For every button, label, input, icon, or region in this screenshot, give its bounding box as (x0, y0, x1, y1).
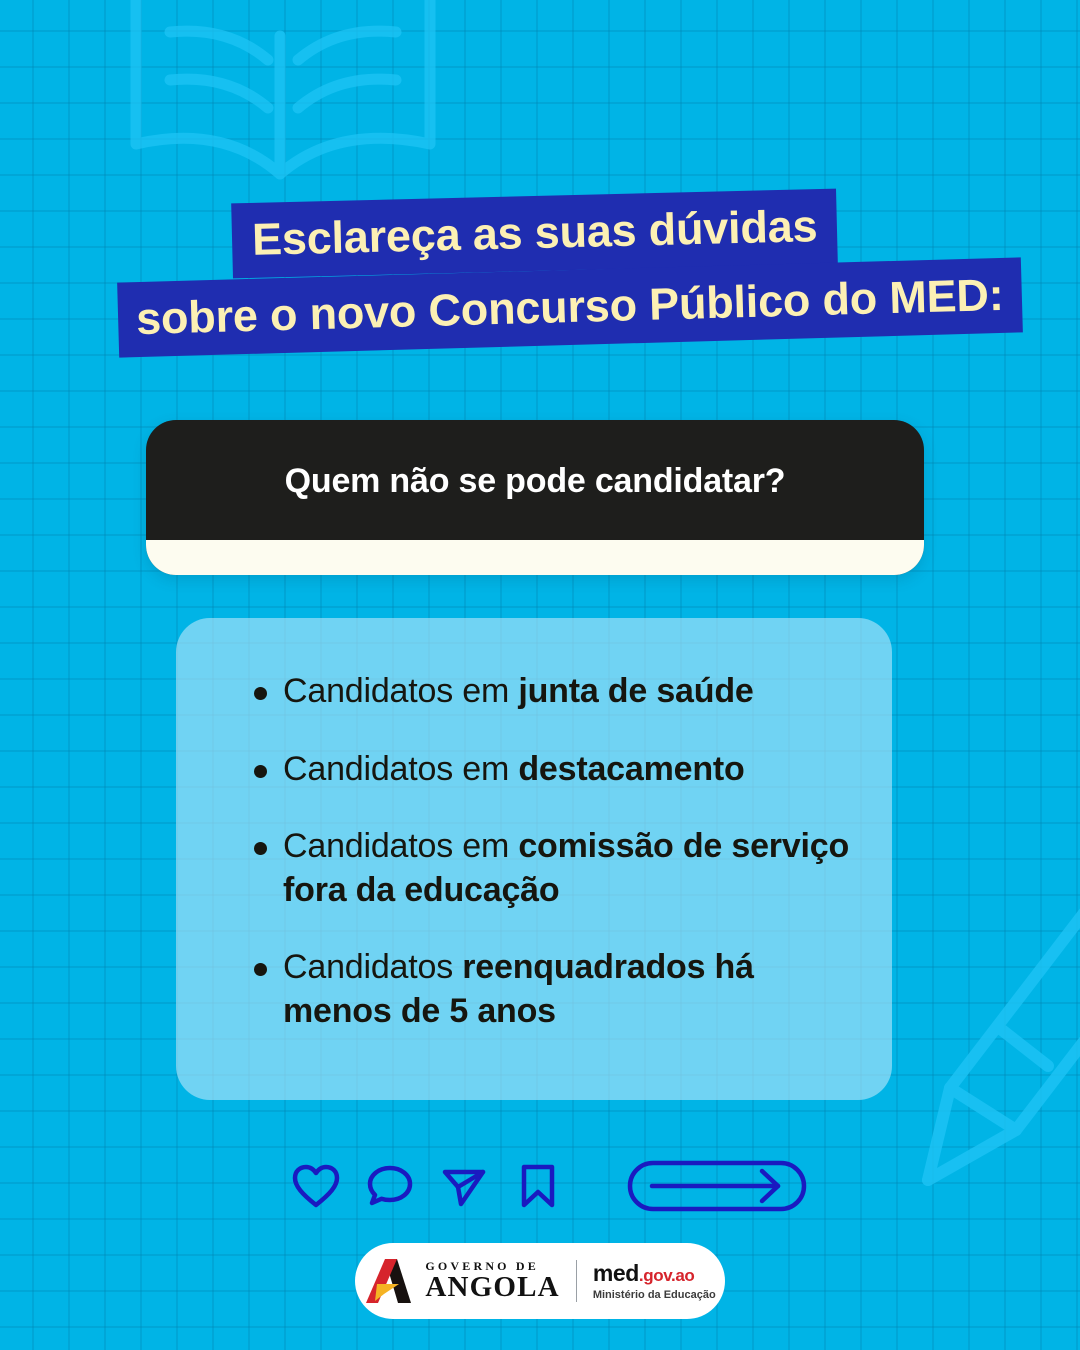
bullet-lead: Candidatos em (283, 750, 518, 788)
governo-text-block: GOVERNO DE ANGOLA (425, 1260, 560, 1302)
question-text: Quem não se pode candidatar? (146, 462, 924, 501)
bookmark-icon[interactable] (512, 1160, 564, 1212)
swipe-right-button[interactable] (626, 1155, 808, 1217)
med-domain-line: med.gov.ao (593, 1262, 716, 1285)
answer-panel: Candidatos em junta de saúde Candidatos … (176, 618, 892, 1100)
question-card: Quem não se pode candidatar? (146, 420, 924, 575)
list-item: Candidatos em destacamento (254, 748, 862, 792)
bullet-lead: Candidatos (283, 948, 462, 986)
bullet-text: Candidatos em destacamento (283, 748, 745, 792)
bullet-emphasis: destacamento (518, 750, 744, 788)
angola-a-mark-icon (364, 1257, 416, 1305)
bullet-dot-icon (254, 765, 267, 778)
bullet-dot-icon (254, 963, 267, 976)
bullet-emphasis: junta de saúde (518, 672, 753, 710)
med-gov-ao-logo: med.gov.ao Ministério da Educação (593, 1262, 716, 1301)
heart-icon[interactable] (290, 1160, 342, 1212)
logo-divider (576, 1260, 577, 1302)
list-item: Candidatos em junta de saúde (254, 670, 862, 714)
share-icon[interactable] (438, 1160, 490, 1212)
bullet-lead: Candidatos em (283, 672, 518, 710)
comment-icon[interactable] (364, 1160, 416, 1212)
bullet-lead: Candidatos em (283, 827, 518, 865)
pencil-icon (898, 880, 1080, 1210)
bullet-text: Candidatos reenquadrados há menos de 5 a… (283, 946, 862, 1033)
bullet-text: Candidatos em comissão de serviço fora d… (283, 825, 862, 912)
med-domain-label: .gov.ao (639, 1266, 694, 1285)
bullet-text: Candidatos em junta de saúde (283, 670, 754, 714)
card-bottom-strip (146, 540, 924, 575)
social-action-row (290, 1155, 808, 1217)
list-item: Candidatos em comissão de serviço fora d… (254, 825, 862, 912)
open-book-icon (118, 0, 448, 214)
bullet-dot-icon (254, 842, 267, 855)
bullet-list: Candidatos em junta de saúde Candidatos … (254, 670, 862, 1067)
governo-de-angola-logo: GOVERNO DE ANGOLA (364, 1257, 560, 1305)
med-label: med (593, 1260, 639, 1286)
angola-label: ANGOLA (425, 1273, 560, 1302)
list-item: Candidatos reenquadrados há menos de 5 a… (254, 946, 862, 1033)
footer-logo-bar: GOVERNO DE ANGOLA med.gov.ao Ministério … (355, 1243, 725, 1319)
ministry-label: Ministério da Educação (593, 1290, 716, 1301)
bullet-dot-icon (254, 687, 267, 700)
post-canvas: Esclareça as suas dúvidas sobre o novo C… (0, 0, 1080, 1350)
